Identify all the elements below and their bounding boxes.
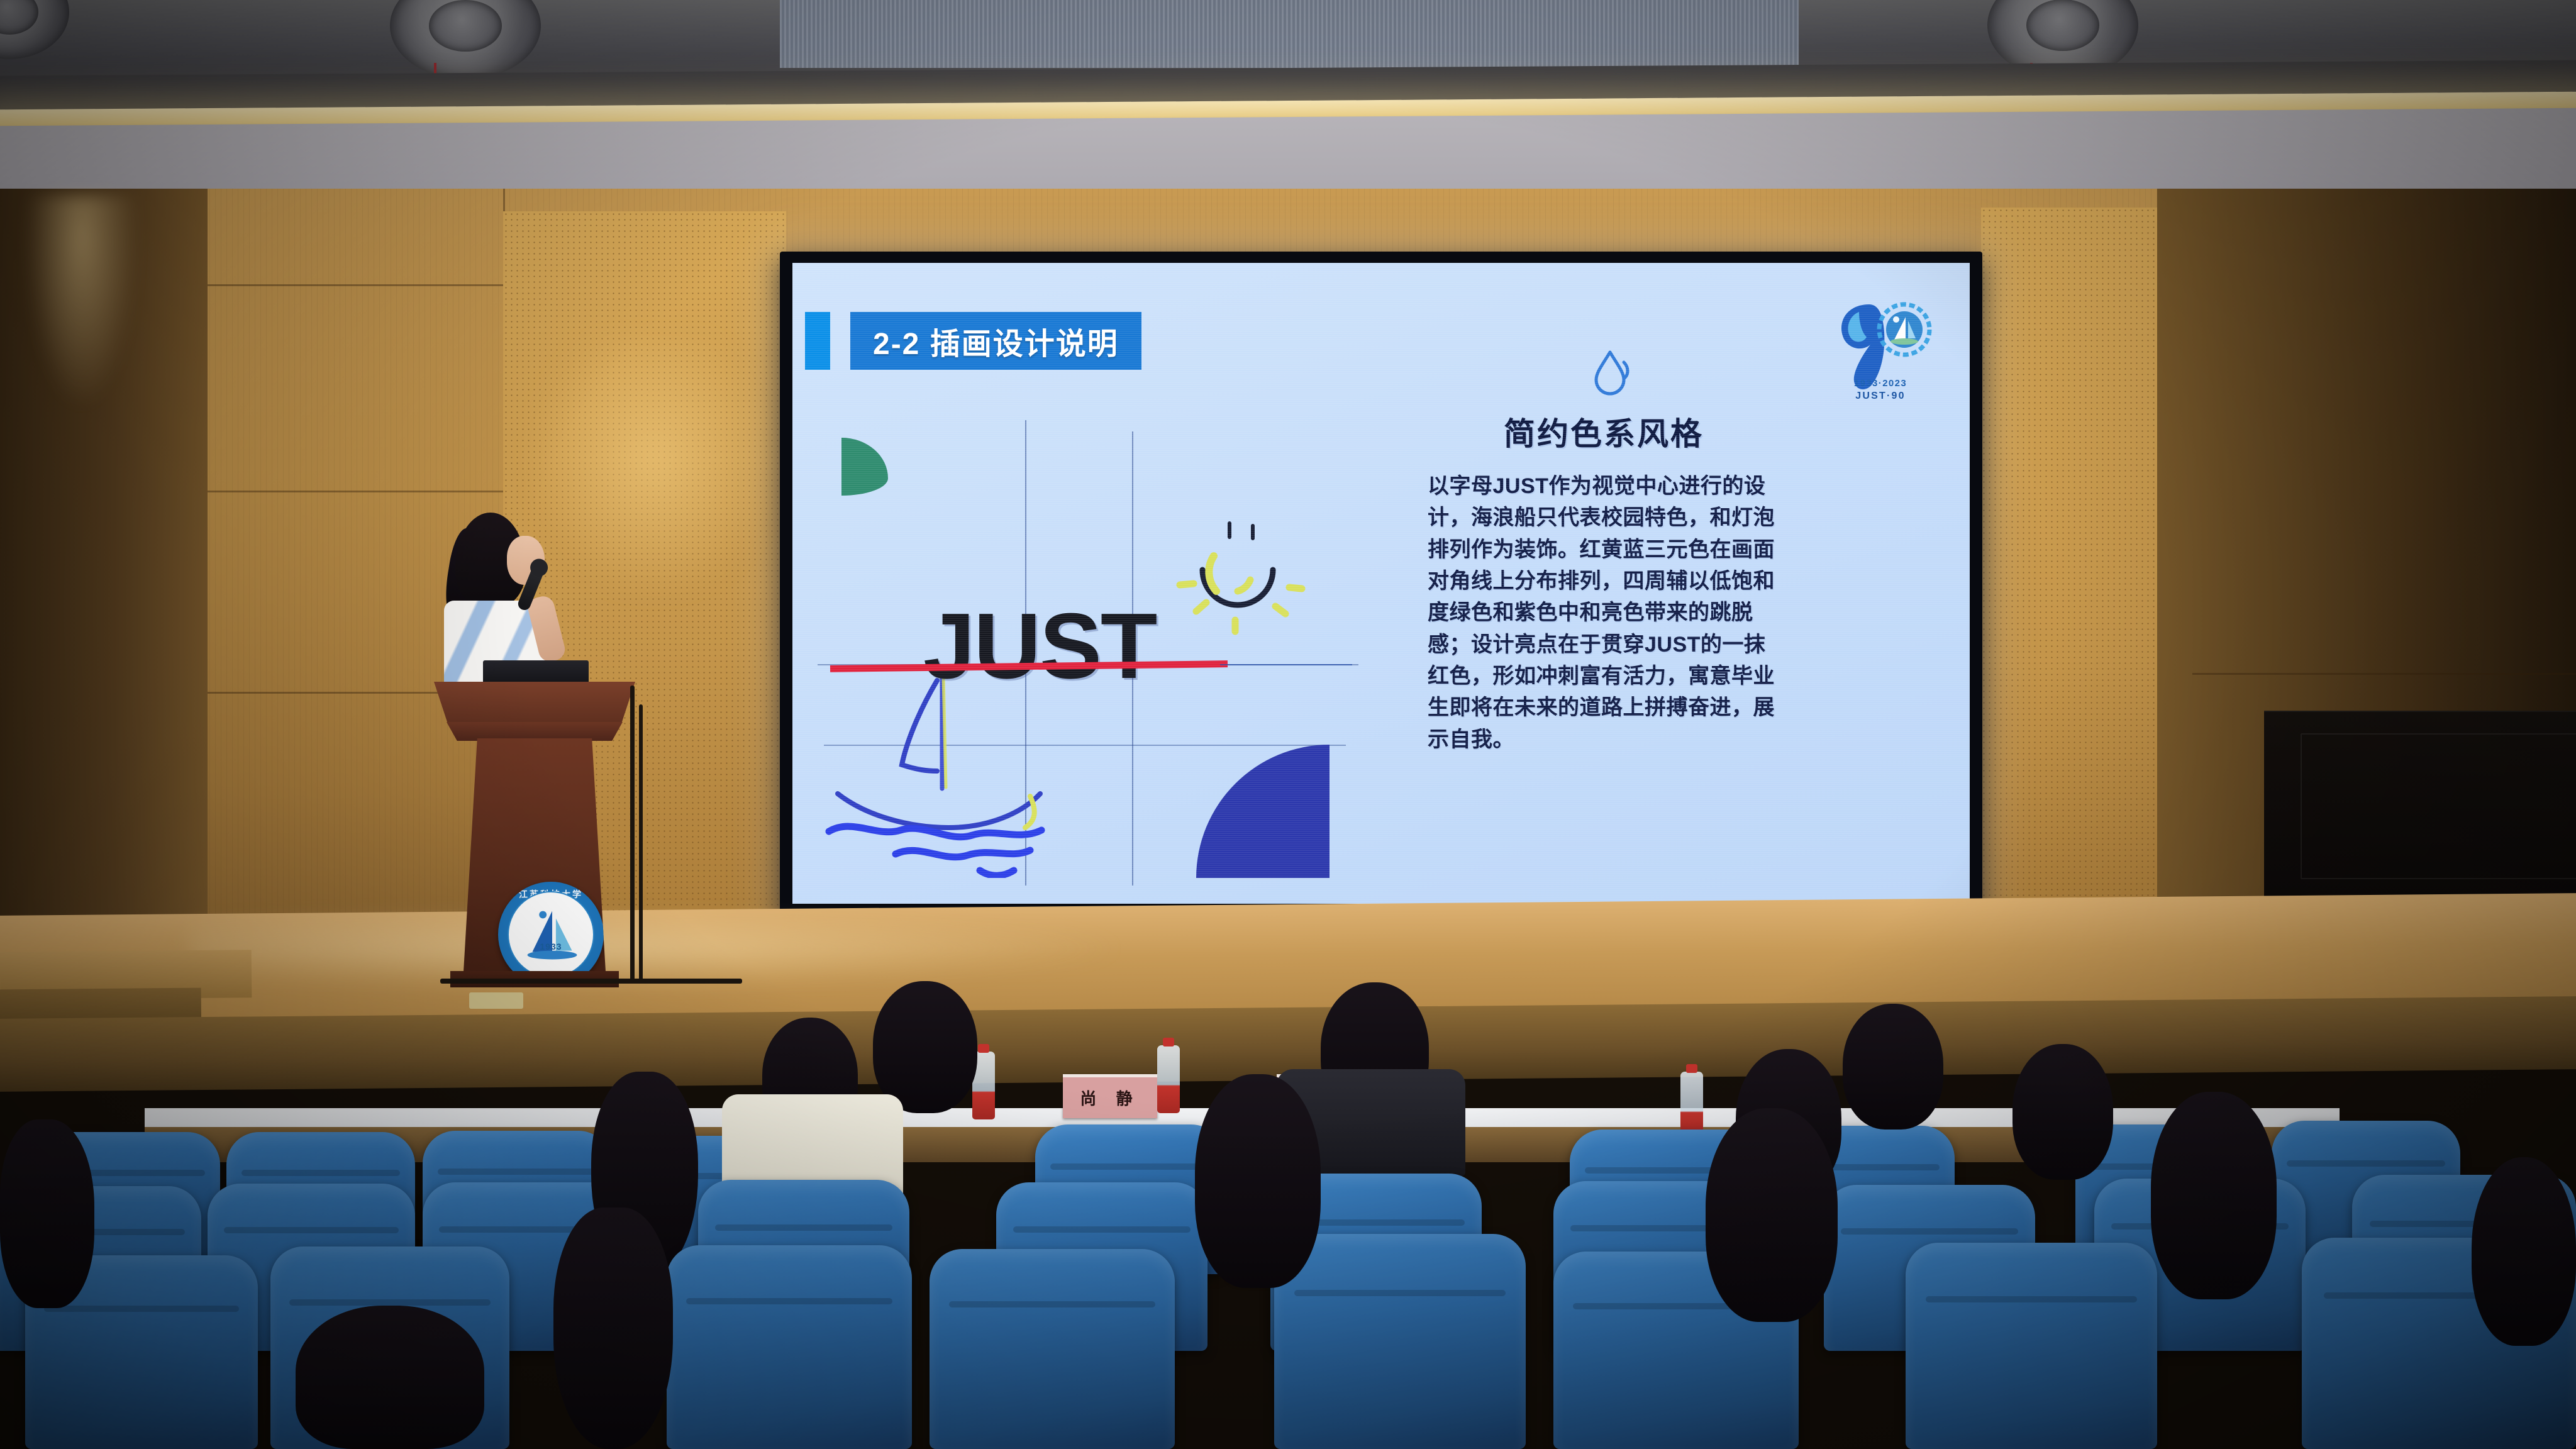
green-quarter-circle-icon [841,438,888,496]
ceiling-slat-panel [780,0,1799,68]
audience-head-14 [0,1119,94,1308]
slide-title-banner: 2-2 插画设计说明 [850,312,1141,370]
audience-head-1 [873,981,977,1113]
slide-body-text: 以字母JUST作为视觉中心进行的设计，海浪船只代表校园特色，和灯泡排列作为装饰。… [1428,470,1780,755]
logo-caption: 1933·2023 JUST·90 [1824,378,1937,402]
emblem-inner-disc: 1933 [508,891,594,978]
audience-head-10 [1195,1074,1321,1288]
title-accent-bar [805,312,830,370]
stage-cable-3 [440,979,742,984]
sailboat-icon [823,670,1087,878]
lectern-body: 江苏科技大学 1933 JIANGSU UNIVERSITY OF SCIENC… [463,738,606,982]
wall-seam-right-h [2192,673,2576,675]
audience-head-3 [1843,1004,1943,1130]
blue-hairline [1220,664,1352,665]
logo-years-text: 1933·2023 [1824,378,1937,390]
emblem-sail-icon [509,892,596,979]
audience-head-9 [553,1207,673,1449]
just-wordmark-text: JUST [923,600,1156,693]
audience-head-11 [1706,1108,1838,1322]
lectern-top [434,682,635,724]
audience-head-12 [2151,1092,2277,1299]
slide-text-column: 简约色系风格 以字母JUST作为视觉中心进行的设计，海浪船只代表校园特色，和灯泡… [1428,409,1780,755]
audience-head-7 [2012,1044,2113,1180]
projection-screen: 2-2 插画设计说明 1933·2023 JUST·90 [780,252,1982,915]
name-placard-1: 尚 静 [1063,1074,1157,1118]
slide-title-text: 2-2 插画设计说明 [873,319,1119,363]
presentation-slide: 2-2 插画设计说明 1933·2023 JUST·90 [792,263,1970,904]
illustration-area: JUST [818,420,1384,885]
stage-floor-box [469,992,523,1009]
logo-name-text: JUST·90 [1824,390,1937,402]
stage-right-cabinet [2264,711,2576,899]
stage-cable-2 [639,704,643,981]
seat-r3-c4 [930,1249,1175,1449]
blue-quarter-circle-icon [1196,745,1330,878]
audience-head-8 [296,1306,484,1449]
seat-r3-c3 [667,1245,912,1449]
anniversary-logo: 1933·2023 JUST·90 [1824,293,1937,406]
lectern-lip [447,722,623,741]
lectern: 江苏科技大学 1933 JIANGSU UNIVERSITY OF SCIENC… [434,655,635,995]
sun-lightbulb-icon [1170,514,1314,640]
audience-head-13 [2472,1157,2576,1346]
stage-cable-1 [630,686,635,981]
name-placard-1-text: 尚 静 [1080,1086,1140,1109]
wall-left-light-pool [25,195,138,409]
seat-r3-c5 [1274,1234,1526,1449]
stage-floor-highlight [189,911,1132,986]
auditorium-photo: 2-2 插画设计说明 1933·2023 JUST·90 [0,0,2576,1449]
water-droplet-icon [1590,348,1630,397]
wall-light-pool [522,340,786,604]
emblem-year-text: 1933 [509,941,593,952]
slide-heading: 简约色系风格 [1428,409,1780,454]
seat-r3-c7 [1906,1243,2157,1449]
water-bottle-2 [1157,1045,1180,1113]
